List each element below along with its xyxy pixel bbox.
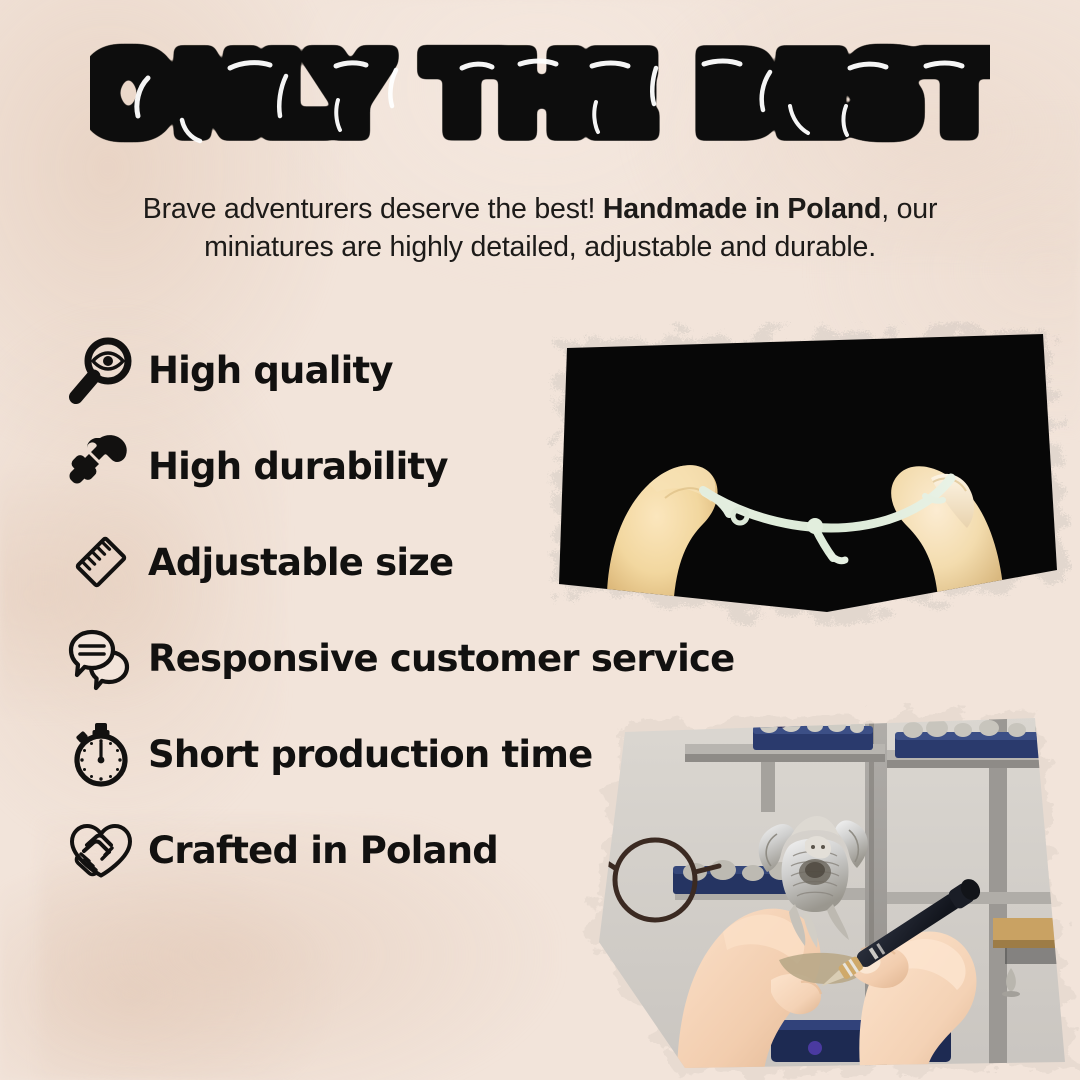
poster-canvas: ONLY THE BEST	[0, 0, 1080, 1080]
workshop-painting-photo	[565, 692, 1080, 1080]
flexible-miniature-photo	[527, 312, 1080, 630]
workshop-painting-artwork	[565, 692, 1080, 1080]
page-title-text: ONLY THE BEST	[90, 34, 990, 156]
hammer-icon	[62, 430, 140, 502]
flexible-miniature-artwork	[527, 312, 1080, 630]
feature-label: High quality	[148, 349, 393, 392]
feature-label: Crafted in Poland	[148, 829, 498, 872]
page-title: ONLY THE BEST	[0, 34, 1080, 162]
handshake-heart-icon	[62, 814, 140, 886]
stopwatch-icon	[62, 718, 140, 790]
feature-label: Responsive customer service	[148, 637, 734, 680]
magnifier-eye-icon	[62, 334, 140, 406]
subtitle-lead: Brave adventurers deserve the best!	[143, 193, 603, 225]
feature-label: Adjustable size	[148, 541, 453, 584]
feature-label: Short production time	[148, 733, 592, 776]
page-subtitle: Brave adventurers deserve the best! Hand…	[90, 190, 990, 266]
subtitle-highlight: Handmade in Poland	[603, 193, 881, 225]
page-title-artwork: ONLY THE BEST	[90, 34, 990, 162]
feature-label: High durability	[148, 445, 448, 488]
speech-bubbles-icon	[62, 622, 140, 694]
ruler-icon	[62, 526, 140, 598]
